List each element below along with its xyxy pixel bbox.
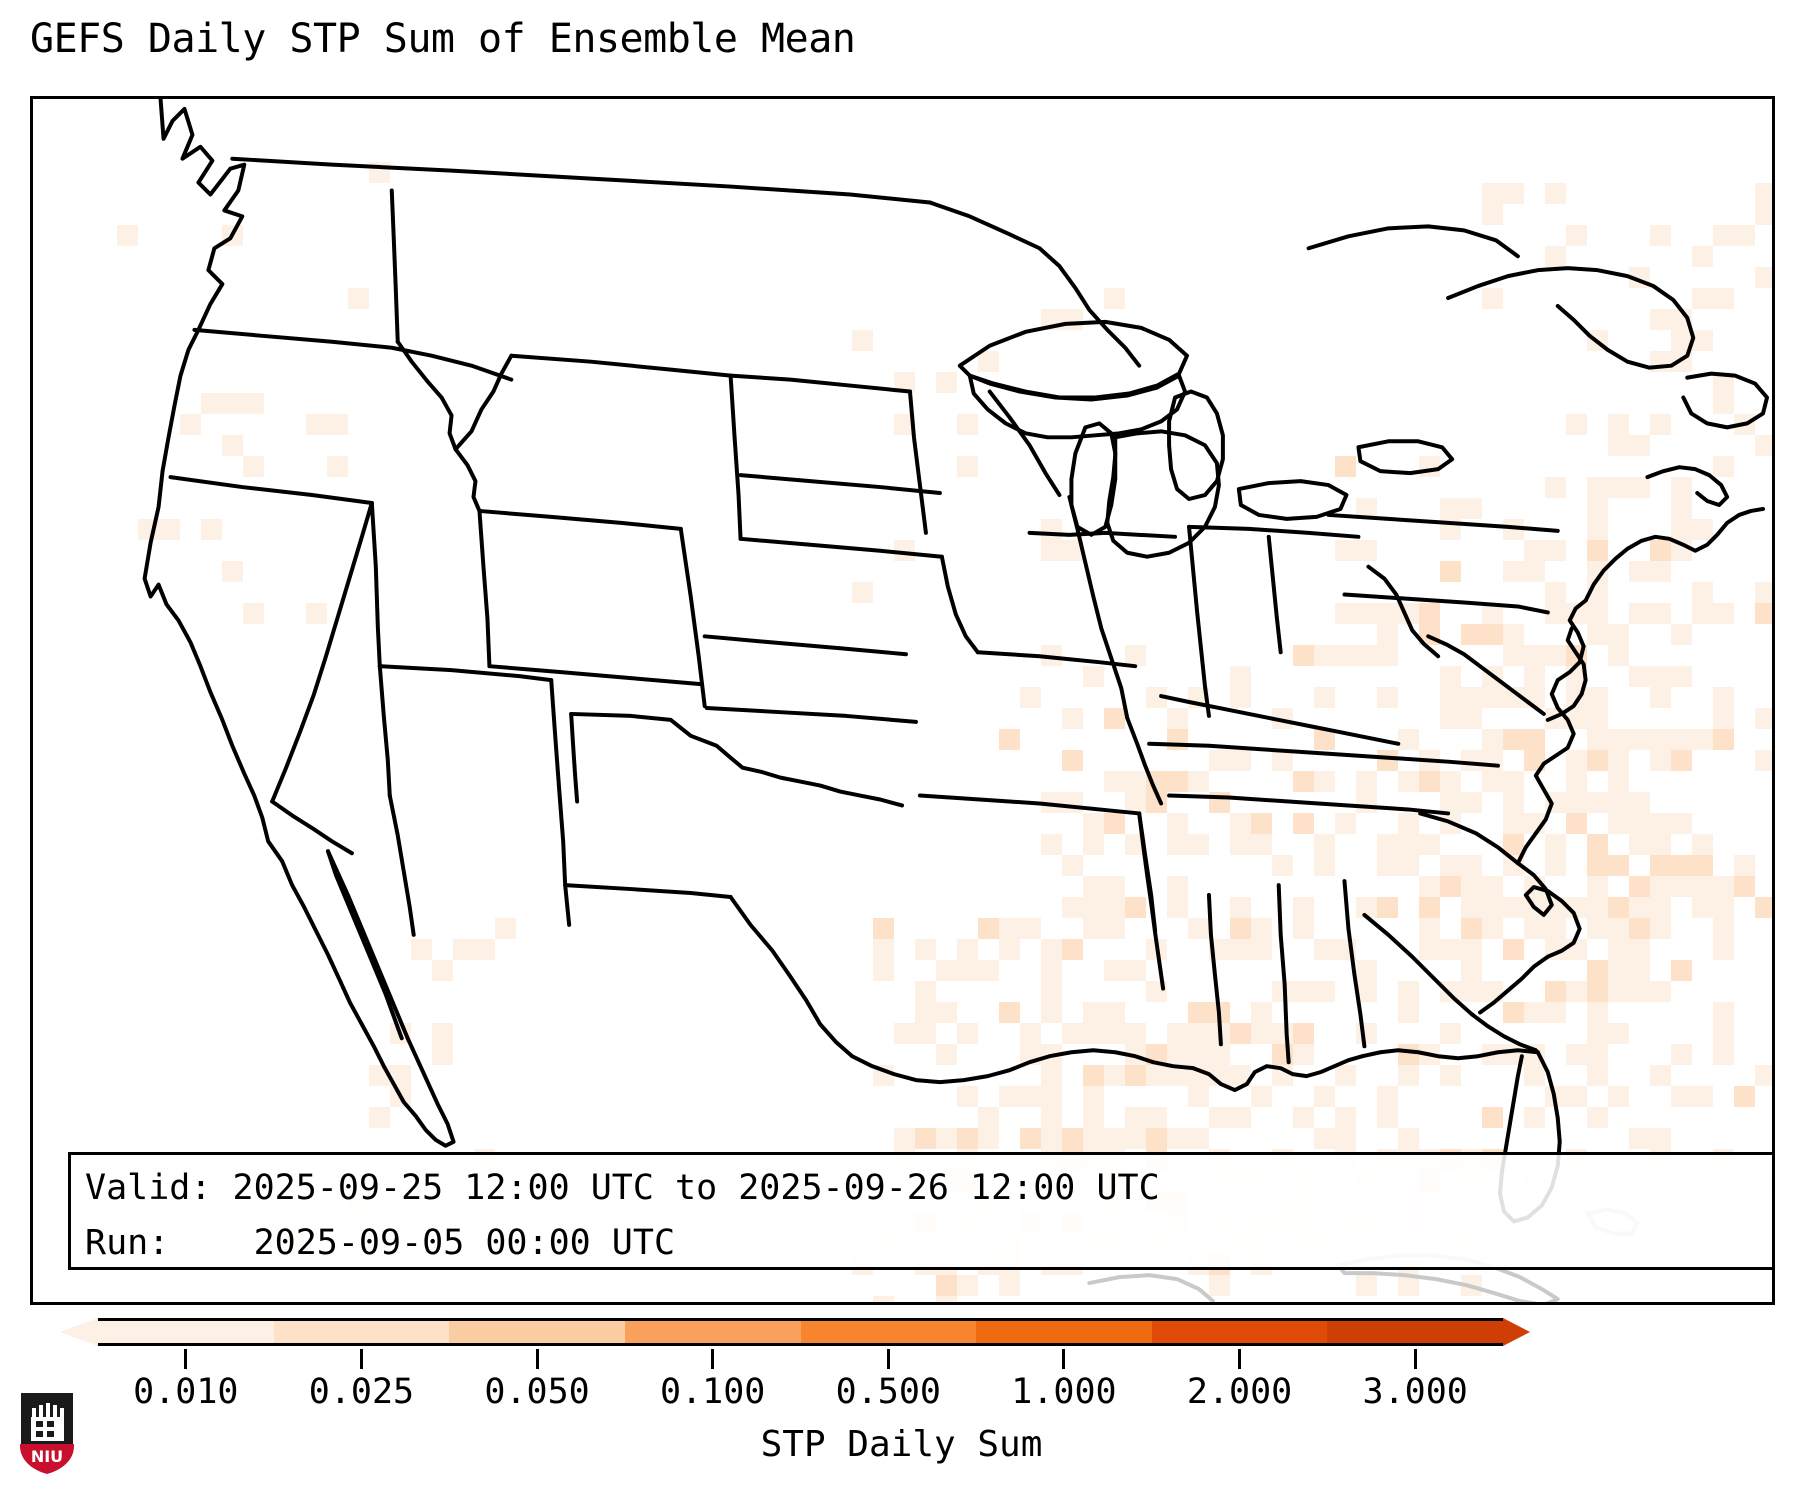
- colorbar-tick-1: [360, 1349, 363, 1369]
- coastline-virginia-chesapeake: [1518, 600, 1586, 863]
- info-box: Valid: 2025-09-25 12:00 UTC to 2025-09-2…: [68, 1152, 1775, 1270]
- map-canvas: [33, 99, 1772, 1302]
- colorbar-tick-3: [711, 1349, 714, 1369]
- state-line-ca-az: [272, 801, 352, 853]
- state-line-wa-id: [392, 191, 398, 342]
- state-line-ky-tn: [1149, 744, 1498, 766]
- us-canada-border-east: [930, 202, 1139, 365]
- state-line-az-nm: [390, 796, 414, 935]
- page-title: GEFS Daily STP Sum of Ensemble Mean: [30, 16, 855, 62]
- colorbar-band-7: [1327, 1321, 1503, 1343]
- state-line-id-nv-ut: [372, 503, 380, 666]
- state-line-ut-co: [479, 511, 489, 666]
- state-line-wy-sd-ne: [731, 376, 741, 539]
- colorbar-right-extend-arrow: [1503, 1318, 1530, 1346]
- state-line-wa-or: [194, 330, 511, 380]
- coastline-yucatan: [1089, 1275, 1213, 1301]
- gulf-of-california: [328, 851, 402, 1038]
- state-line-nd-sd: [741, 475, 940, 493]
- colorbar-tick-label-7: 3.000: [1363, 1372, 1468, 1412]
- colorbar-tick-label-0: 0.010: [133, 1372, 238, 1412]
- map-panel[interactable]: [30, 96, 1775, 1305]
- state-line-tn-ms-al-ga: [1169, 796, 1448, 814]
- colorbar-tick-label-5: 1.000: [1011, 1372, 1116, 1412]
- state-line-ca-nv: [272, 503, 372, 802]
- state-line-ne-ks: [705, 636, 906, 654]
- niu-wordmark: NIU: [31, 1447, 63, 1466]
- coastline-new-england-cape: [1647, 467, 1727, 505]
- lake-ontario: [1358, 441, 1452, 473]
- colorbar-tick-6: [1238, 1349, 1241, 1369]
- coastline-gulf-alabama-florida: [1362, 1050, 1537, 1058]
- state-line-mi-oh-in: [1189, 527, 1358, 537]
- coastline-carolinas: [1480, 863, 1580, 1012]
- colorbar-tick-label-1: 0.025: [309, 1372, 414, 1412]
- coastline-texas-gulf: [731, 897, 1193, 1082]
- colorbar-tick-5: [1062, 1349, 1065, 1369]
- state-line-mi-wi-il: [1105, 533, 1175, 537]
- state-line-co-ne-ks: [681, 529, 705, 706]
- colorbar-left-extend-arrow: [60, 1318, 98, 1346]
- run-time-line: Run: 2025-09-05 00:00 UTC: [85, 1216, 1758, 1271]
- state-line-ga-sc: [1364, 915, 1472, 1015]
- state-line-mt-nd: [731, 376, 910, 392]
- state-line-ok-tx-panhandle: [571, 714, 577, 802]
- state-line-in-il: [1189, 527, 1209, 716]
- map-outlines-svg: [33, 99, 1772, 1302]
- colorbar-band-3: [625, 1321, 801, 1343]
- baja-california-coast: [282, 851, 453, 1146]
- coastline-nj-ny-newengland: [1586, 509, 1763, 601]
- state-line-oh-in: [1269, 537, 1281, 652]
- colorbar-tick-label-3: 0.100: [660, 1372, 765, 1412]
- coastline-st-lawrence: [1448, 268, 1693, 368]
- lake-erie: [1239, 481, 1347, 519]
- niu-logo: NIU: [16, 1390, 78, 1476]
- colorbar-tick-7: [1414, 1349, 1417, 1369]
- colorbar-band-0: [98, 1321, 274, 1343]
- state-line-sd-ne: [741, 539, 942, 557]
- coastline-hudson-quebec: [1309, 226, 1518, 256]
- state-line-nm-tx: [551, 680, 569, 925]
- state-line-pa-ny: [1329, 515, 1558, 531]
- colorbar-band-4: [801, 1321, 977, 1343]
- state-line-id-wy: [456, 449, 480, 511]
- state-line-or-ca-nv: [171, 477, 372, 503]
- colorbar[interactable]: 0.0100.0250.0500.1000.5001.0002.0003.000: [60, 1318, 1530, 1358]
- colorbar-tick-2: [536, 1349, 539, 1369]
- state-line-nm-tx-south: [565, 885, 730, 897]
- valid-time-line: Valid: 2025-09-25 12:00 UTC to 2025-09-2…: [85, 1161, 1758, 1216]
- colorbar-tick-label-6: 2.000: [1187, 1372, 1292, 1412]
- state-line-ne-ia: [942, 557, 978, 653]
- state-line-pa-md-de: [1344, 595, 1547, 613]
- state-line-nc-sc: [1420, 813, 1518, 863]
- state-line-mo-ar: [920, 796, 1139, 814]
- state-line-mt-wy: [511, 356, 730, 376]
- colorbar-band-6: [1152, 1321, 1328, 1343]
- coastline-louisiana-delta: [1193, 1056, 1362, 1090]
- state-line-il-ky-in: [1161, 696, 1398, 744]
- river-missouri-nd-sd: [910, 392, 926, 533]
- state-line-ks-ok: [707, 708, 916, 722]
- state-line-ok-tx: [571, 714, 902, 806]
- coastline-west-oregon-california: [145, 330, 283, 861]
- colorbar-axis-label: STP Daily Sum: [0, 1424, 1803, 1465]
- colorbar-tick-0: [184, 1349, 187, 1369]
- coastline-pacific-northwest: [161, 99, 245, 330]
- colorbar-tick-label-2: 0.050: [484, 1372, 589, 1412]
- geography-layer: [33, 99, 1772, 1302]
- us-canada-border: [232, 159, 930, 203]
- state-line-ar-la: [1139, 813, 1155, 930]
- state-line-la-ms: [1209, 895, 1221, 1044]
- coastline-nova-scotia: [1683, 374, 1767, 428]
- state-line-nv-ut-az: [380, 666, 390, 795]
- state-line-wy-co: [479, 511, 680, 529]
- state-line-il-mo: [1127, 718, 1161, 804]
- colorbar-tick-4: [887, 1349, 890, 1369]
- colorbar-band-1: [274, 1321, 450, 1343]
- colorbar-band-5: [976, 1321, 1152, 1343]
- state-line-oh-wv-pa: [1368, 567, 1438, 657]
- coastline-southeast-atlantic: [1472, 1014, 1536, 1050]
- colorbar-band-2: [449, 1321, 625, 1343]
- colorbar-bands: [98, 1318, 1503, 1346]
- state-line-ms-al: [1279, 885, 1289, 1062]
- state-line-va-wv-md: [1428, 636, 1544, 714]
- colorbar-tick-label-4: 0.500: [836, 1372, 941, 1412]
- state-line-mn-wi: [990, 392, 1060, 495]
- state-line-al-ga: [1344, 881, 1364, 1046]
